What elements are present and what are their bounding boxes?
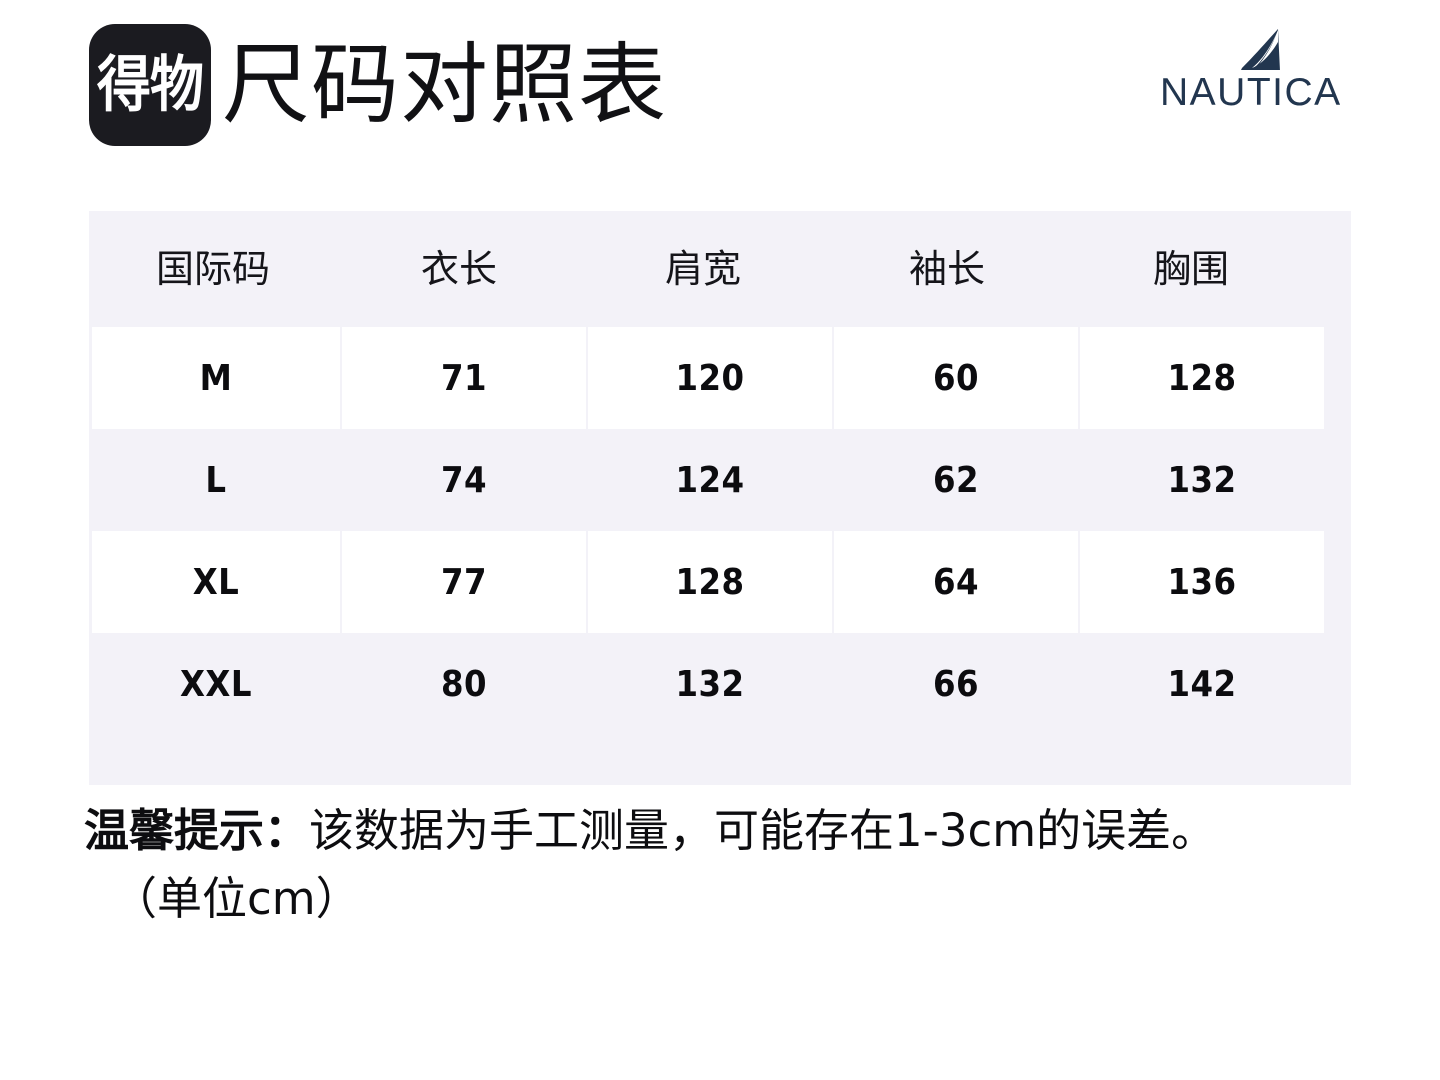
- footnote-primary-line: 温馨提示：该数据为手工测量，可能存在1-3cm的误差。: [84, 800, 1374, 862]
- size-cell: L: [92, 429, 340, 531]
- column-header: 国际码: [89, 247, 337, 291]
- table-row: L 74 124 62 132: [89, 429, 1351, 531]
- footnote-label: 温馨提示：: [84, 804, 309, 857]
- size-cell: XL: [92, 531, 340, 633]
- dewu-app-logo-icon: 得物: [89, 24, 211, 146]
- column-header: 衣长: [337, 247, 581, 291]
- footnote: 温馨提示：该数据为手工测量，可能存在1-3cm的误差。 （单位cm）: [84, 800, 1374, 930]
- value-cell: 142: [1080, 633, 1324, 735]
- value-cell: 132: [588, 633, 832, 735]
- value-cell: 62: [834, 429, 1078, 531]
- value-cell: 60: [834, 327, 1078, 429]
- value-cell: 136: [1080, 531, 1324, 633]
- column-header: 胸围: [1069, 247, 1313, 291]
- value-cell: 71: [342, 327, 586, 429]
- table-row: XXL 80 132 66 142: [89, 633, 1351, 735]
- value-cell: 74: [342, 429, 586, 531]
- value-cell: 128: [588, 531, 832, 633]
- size-cell: XXL: [92, 633, 340, 735]
- value-cell: 64: [834, 531, 1078, 633]
- page-title: 尺码对照表: [222, 33, 667, 137]
- footnote-body: 该数据为手工测量，可能存在1-3cm的误差。: [309, 804, 1216, 857]
- table-row: XL 77 128 64 136: [89, 531, 1351, 633]
- value-cell: 128: [1080, 327, 1324, 429]
- value-cell: 66: [834, 633, 1078, 735]
- size-cell: M: [92, 327, 340, 429]
- size-chart-page: 得物 尺码对照表 NAUTICA 国际码 衣长 肩宽 袖长 胸围 M 71 12…: [0, 0, 1440, 1080]
- value-cell: 120: [588, 327, 832, 429]
- dewu-app-logo-label: 得物: [97, 55, 203, 115]
- value-cell: 132: [1080, 429, 1324, 531]
- brand-logo: NAUTICA: [1160, 28, 1328, 110]
- column-header: 肩宽: [581, 247, 825, 291]
- footnote-unit-note: （单位cm）: [84, 868, 1374, 930]
- value-cell: 80: [342, 633, 586, 735]
- page-header: 得物 尺码对照表 NAUTICA: [0, 0, 1440, 176]
- nautica-sail-icon: [1238, 28, 1284, 72]
- column-header: 袖长: [825, 247, 1069, 291]
- table-header-row: 国际码 衣长 肩宽 袖长 胸围: [89, 211, 1351, 327]
- value-cell: 77: [342, 531, 586, 633]
- table-row: M 71 120 60 128: [89, 327, 1351, 429]
- brand-wordmark: NAUTICA: [1160, 72, 1328, 114]
- value-cell: 124: [588, 429, 832, 531]
- size-table: 国际码 衣长 肩宽 袖长 胸围 M 71 120 60 128 L 74 124…: [89, 211, 1351, 785]
